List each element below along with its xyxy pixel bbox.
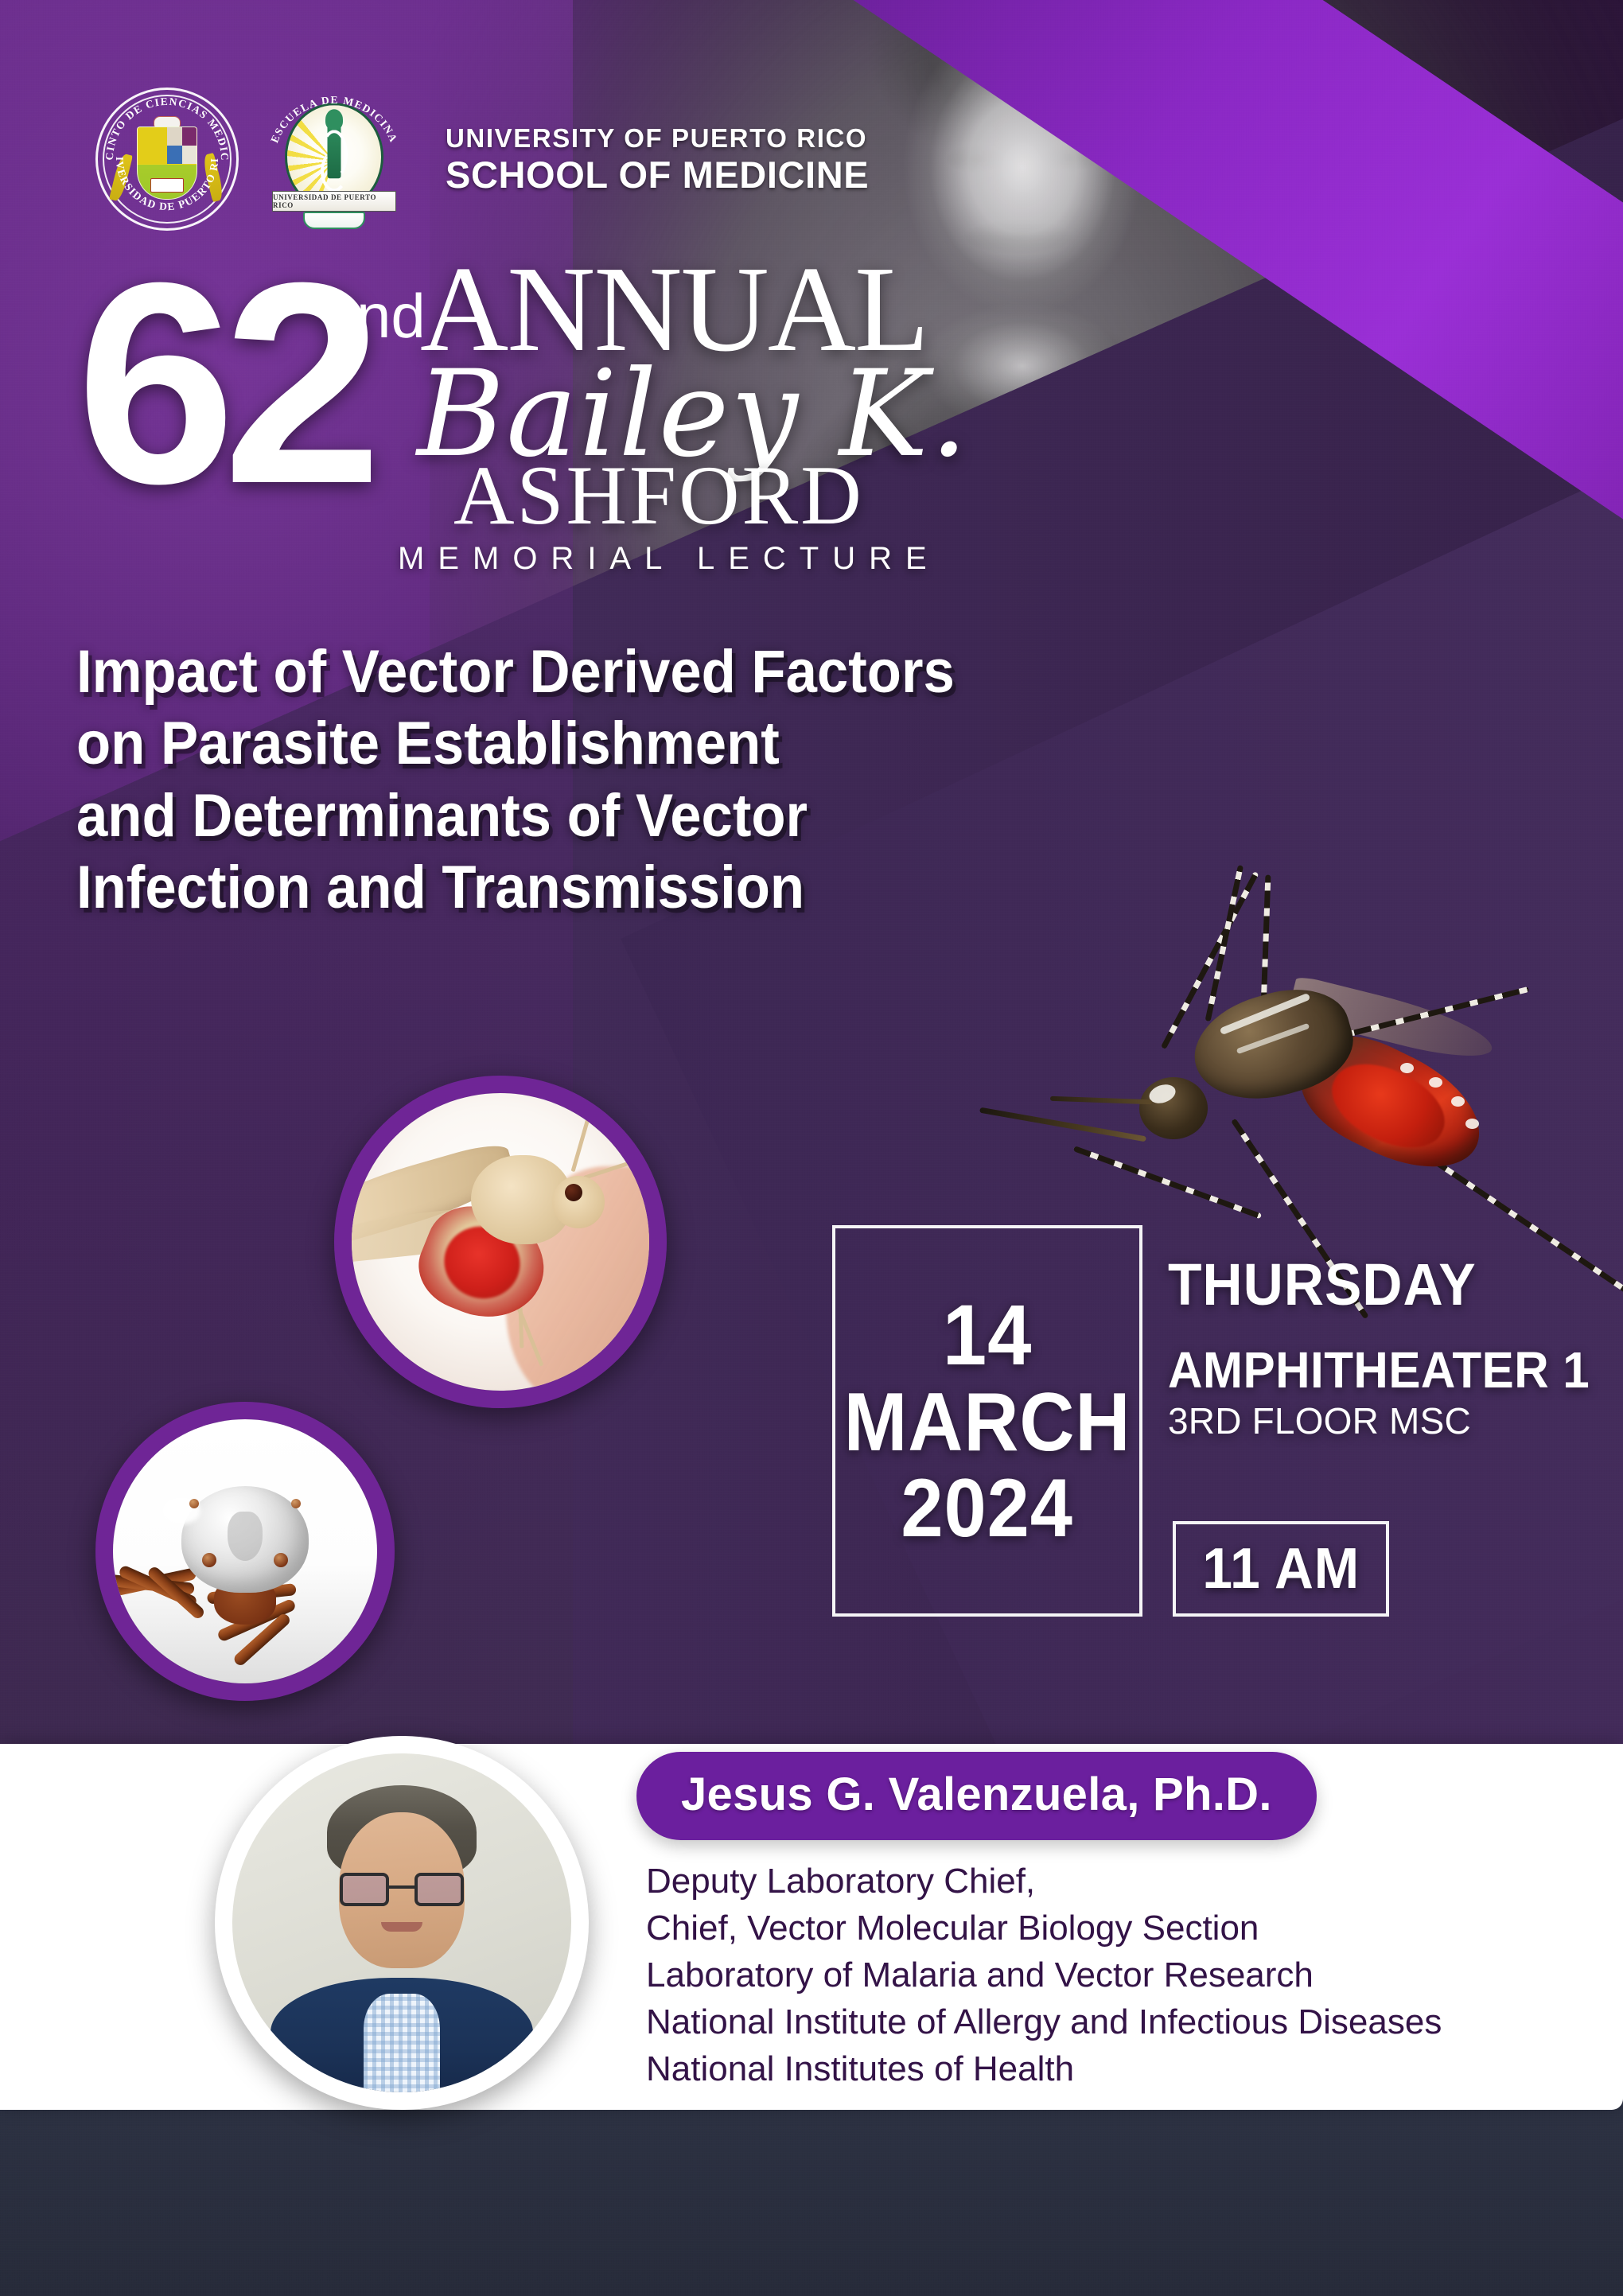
credential-line: Laboratory of Malaria and Vector Researc…: [646, 1952, 1442, 1999]
lecture-title-line-2: on Parasite Establishment: [76, 708, 1135, 780]
speaker-name: Jesus G. Valenzuela, Ph.D.: [681, 1769, 1272, 1820]
glasses-lens-left: [340, 1873, 389, 1906]
lecture-poster: S S S: [0, 0, 1623, 2296]
school-name: SCHOOL OF MEDICINE: [446, 154, 869, 196]
speaker-avatar: [215, 1736, 589, 2110]
event-time-box: 11 AM: [1173, 1521, 1389, 1617]
sandfly-image: [352, 1093, 649, 1391]
speaker-credentials: Deputy Laboratory Chief, Chief, Vector M…: [646, 1858, 1442, 2093]
event-time: 11 AM: [1202, 1536, 1360, 1601]
event-year: 2024: [901, 1465, 1074, 1551]
seal-quarter-2: [167, 127, 182, 146]
university-name: UNIVERSITY OF PUERTO RICO: [446, 123, 869, 154]
event-floor: 3RD FLOOR MSC: [1168, 1401, 1617, 1442]
seal-quarter-1: [138, 127, 167, 165]
speaker-name-badge: Jesus G. Valenzuela, Ph.D.: [636, 1752, 1317, 1840]
medicine-seal-flame: [325, 109, 343, 130]
lecture-title-line-4: Infection and Transmission: [76, 852, 1135, 924]
mosquito-scale: [1465, 1119, 1479, 1129]
sandfly-head: [552, 1176, 605, 1228]
event-day-number: 14: [943, 1290, 1032, 1380]
event-venue-block: THURSDAY AMPHITHEATER 1 3RD FLOOR MSC: [1168, 1254, 1617, 1441]
glasses-icon: [340, 1873, 464, 1906]
seal-shield: [137, 126, 197, 200]
lecture-series-label: MEMORIAL LECTURE: [398, 543, 940, 574]
mosquito-palp: [1050, 1096, 1152, 1104]
tick-dot-left: [189, 1499, 199, 1508]
glasses-bridge: [389, 1885, 415, 1889]
seal-quarter-4: [167, 146, 182, 164]
mosquito-scale: [1400, 1063, 1414, 1073]
sandfly-eye: [565, 1184, 582, 1201]
mosquito-scale: [1451, 1096, 1465, 1107]
tick-eye-right: [274, 1553, 288, 1567]
lecture-title-line-1: Impact of Vector Derived Factors: [76, 636, 1135, 708]
mosquito-proboscis: [979, 1107, 1146, 1142]
upr-medical-sciences-seal-icon: RECINTO DE CIENCIAS MEDICAS UNIVERSIDAD …: [95, 88, 239, 231]
medicine-seal-banner: UNIVERSIDAD DE PUERTO RICO: [272, 191, 396, 212]
tick-dot-right: [291, 1499, 301, 1508]
credential-line: Deputy Laboratory Chief,: [646, 1858, 1442, 1905]
event-month: MARCH: [844, 1380, 1131, 1465]
event-room: AMPHITHEATER 1: [1168, 1343, 1590, 1398]
honoree-surname: ASHFORD: [453, 453, 864, 538]
mosquito-scale: [1429, 1077, 1442, 1088]
speaker-shirt: [364, 1994, 440, 2092]
speaker-photo-inner: [232, 1753, 571, 2092]
school-of-medicine-seal-icon: UNIVERSIDAD DE PUERTO RICO ESCUELA DE ME…: [263, 88, 406, 231]
institution-name-block: UNIVERSITY OF PUERTO RICO SCHOOL OF MEDI…: [446, 123, 869, 196]
credential-line: Chief, Vector Molecular Biology Section: [646, 1905, 1442, 1952]
seal-quarter-3: [182, 127, 197, 146]
lecture-branding-lockup: 62 nd ANNUAL Bailey K. ASHFORD MEMORIAL …: [76, 263, 1031, 549]
tick-scutum-marking: [228, 1512, 263, 1561]
credential-line: National Institutes of Health: [646, 2046, 1442, 2093]
lecture-title-line-3: and Determinants of Vector: [76, 780, 1135, 852]
seal-book: [150, 178, 184, 193]
tick-eye-left: [202, 1553, 216, 1567]
glasses-lens-right: [415, 1873, 464, 1906]
event-date-box: 14 MARCH 2024: [832, 1225, 1142, 1617]
lecture-title: Impact of Vector Derived Factors on Para…: [76, 636, 1135, 924]
edition-number: 62: [76, 240, 369, 527]
tick-image: [113, 1419, 377, 1683]
medicine-seal-serpent-lower: [321, 150, 348, 192]
credential-line: National Institute of Allergy and Infect…: [646, 1999, 1442, 2046]
mosquito-leg-2: [1205, 865, 1244, 1022]
mosquito-leg-6: [1073, 1146, 1262, 1219]
edition-ordinal: nd: [356, 285, 426, 347]
institution-header: RECINTO DE CIENCIAS MEDICAS UNIVERSIDAD …: [95, 88, 869, 231]
mosquito-leg-3: [1261, 874, 1271, 1010]
speaker-mouth: [381, 1922, 422, 1932]
event-weekday: THURSDAY: [1168, 1254, 1590, 1316]
seal-quarter-5: [182, 146, 197, 164]
